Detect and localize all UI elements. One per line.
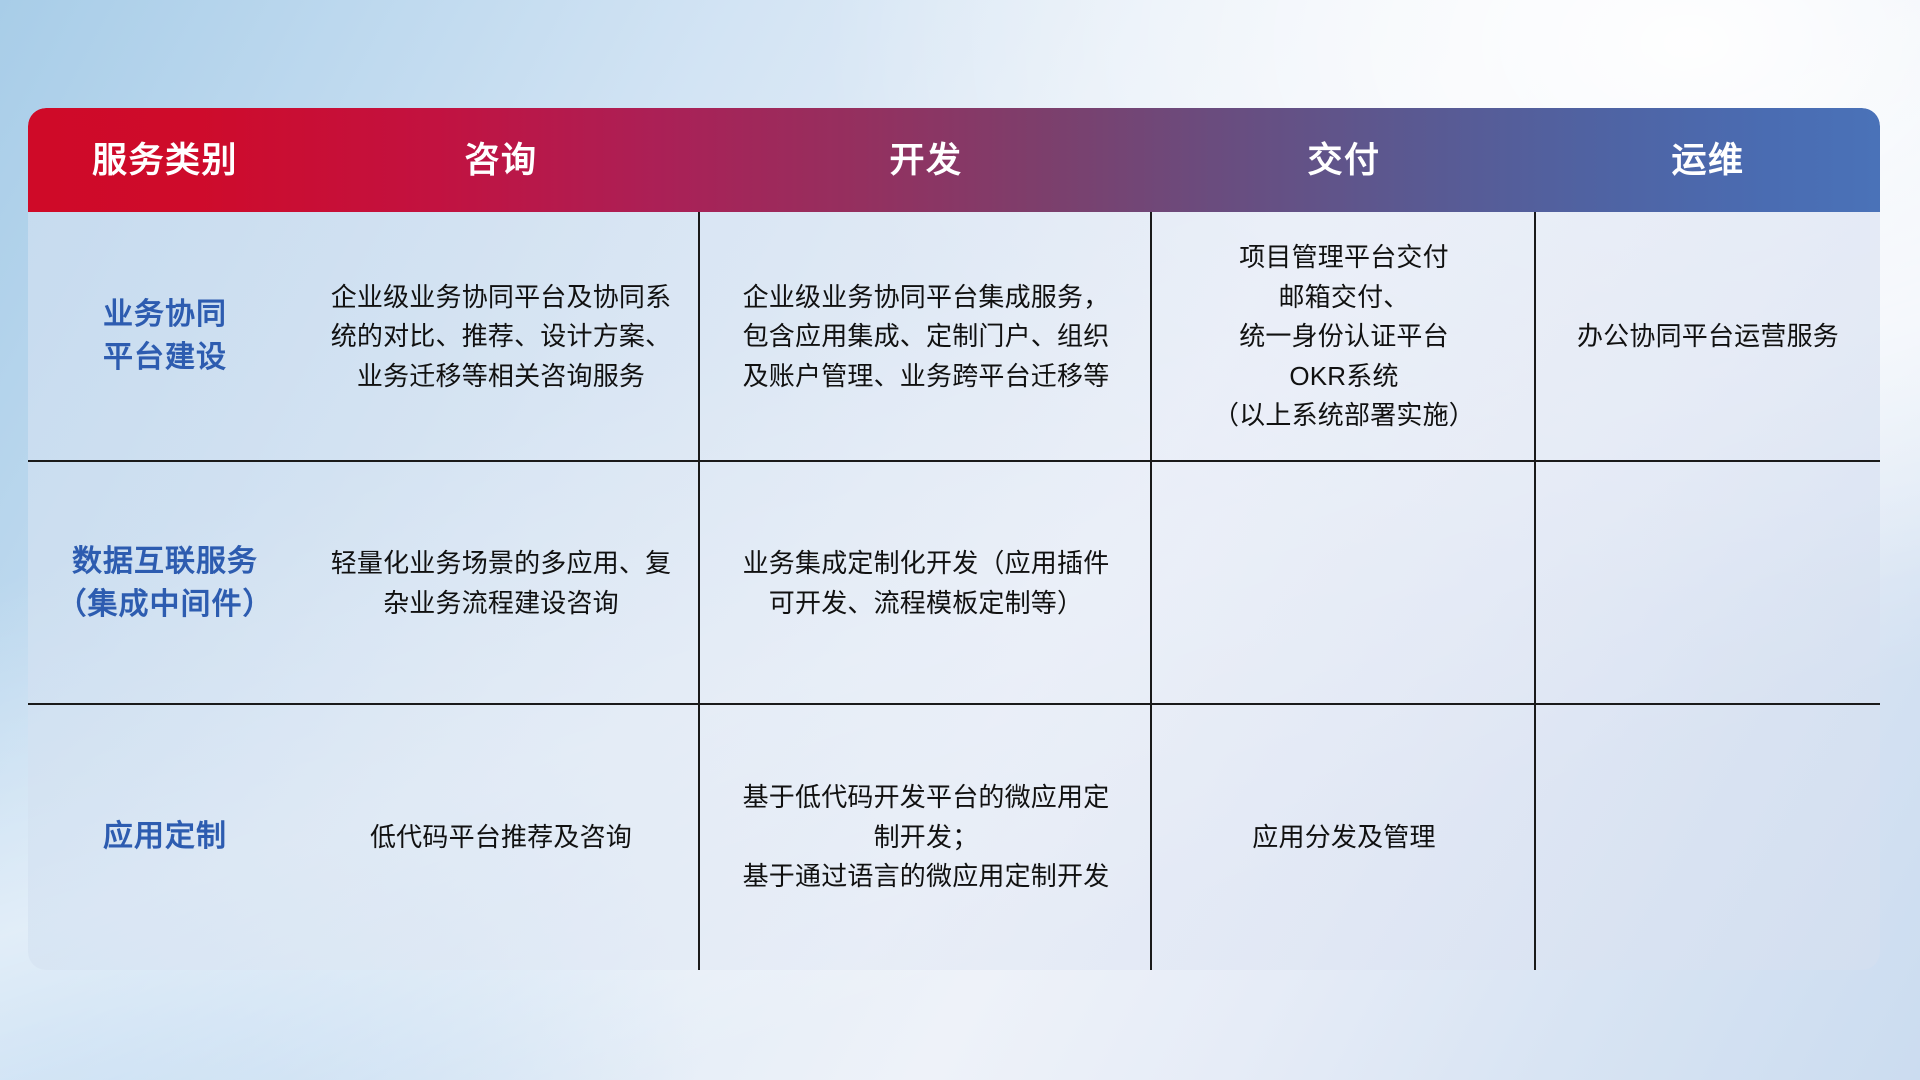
column-header-service-category: 服务类别	[28, 143, 302, 178]
cell-delivery: 项目管理平台交付 邮箱交付、 统一身份认证平台 OKR系统 （以上系统部署实施）	[1152, 212, 1536, 462]
cell-text: 低代码平台推荐及咨询	[370, 818, 632, 858]
cell-text: 业务集成定制化开发（应用插件 可开发、流程模板定制等）	[743, 544, 1110, 623]
cell-delivery: 应用分发及管理	[1152, 705, 1536, 970]
cell-text: 办公协同平台运营服务	[1577, 317, 1839, 357]
table-row: 业务协同 平台建设 企业级业务协同平台及协同系 统的对比、推荐、设计方案、 业务…	[28, 212, 1880, 462]
row-category-label: 数据互联服务 （集成中间件）	[57, 541, 274, 626]
column-header-development: 开发	[700, 143, 1152, 178]
cell-consulting: 企业级业务协同平台及协同系 统的对比、推荐、设计方案、 业务迁移等相关咨询服务	[302, 212, 700, 462]
service-matrix-table: 服务类别 咨询 开发 交付 运维 业务协同 平台建设 企业级业务协同平台及协同系…	[28, 108, 1880, 970]
row-category-cell: 应用定制	[28, 705, 302, 970]
cell-text: 项目管理平台交付 邮箱交付、 统一身份认证平台 OKR系统 （以上系统部署实施）	[1213, 238, 1475, 436]
cell-development: 企业级业务协同平台集成服务， 包含应用集成、定制门户、组织 及账户管理、业务跨平…	[700, 212, 1152, 462]
cell-operations: 办公协同平台运营服务	[1536, 212, 1880, 462]
cell-development: 基于低代码开发平台的微应用定 制开发； 基于通过语言的微应用定制开发	[700, 705, 1152, 970]
cell-development: 业务集成定制化开发（应用插件 可开发、流程模板定制等）	[700, 462, 1152, 705]
column-header-delivery: 交付	[1152, 143, 1536, 178]
row-category-cell: 数据互联服务 （集成中间件）	[28, 462, 302, 705]
cell-operations	[1536, 705, 1880, 970]
cell-text: 企业级业务协同平台集成服务， 包含应用集成、定制门户、组织 及账户管理、业务跨平…	[743, 278, 1110, 397]
row-category-label: 应用定制	[103, 816, 227, 859]
cell-text: 基于低代码开发平台的微应用定 制开发； 基于通过语言的微应用定制开发	[743, 778, 1110, 897]
cell-consulting: 轻量化业务场景的多应用、复 杂业务流程建设咨询	[302, 462, 700, 705]
cell-text: 轻量化业务场景的多应用、复 杂业务流程建设咨询	[331, 544, 672, 623]
column-header-consulting: 咨询	[302, 143, 700, 178]
column-header-operations: 运维	[1536, 143, 1880, 178]
table-row: 应用定制 低代码平台推荐及咨询 基于低代码开发平台的微应用定 制开发； 基于通过…	[28, 705, 1880, 970]
cell-text: 企业级业务协同平台及协同系 统的对比、推荐、设计方案、 业务迁移等相关咨询服务	[331, 278, 672, 397]
table-body: 业务协同 平台建设 企业级业务协同平台及协同系 统的对比、推荐、设计方案、 业务…	[28, 212, 1880, 970]
table-header-row: 服务类别 咨询 开发 交付 运维	[28, 108, 1880, 212]
cell-delivery	[1152, 462, 1536, 705]
cell-text: 应用分发及管理	[1252, 818, 1435, 858]
cell-consulting: 低代码平台推荐及咨询	[302, 705, 700, 970]
table-row: 数据互联服务 （集成中间件） 轻量化业务场景的多应用、复 杂业务流程建设咨询 业…	[28, 462, 1880, 705]
row-category-cell: 业务协同 平台建设	[28, 212, 302, 462]
row-category-label: 业务协同 平台建设	[103, 294, 227, 379]
cell-operations	[1536, 462, 1880, 705]
